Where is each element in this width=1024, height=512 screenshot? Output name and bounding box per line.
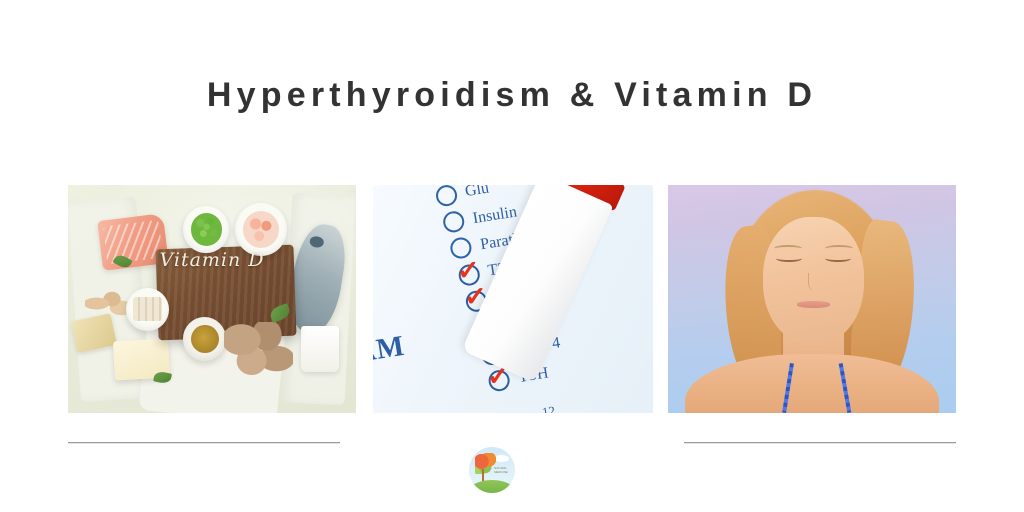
page-title: Hyperthyroidism & Vitamin D	[0, 76, 1024, 115]
nose	[808, 273, 819, 291]
cloud-icon	[494, 455, 510, 462]
eyebrow-left	[774, 245, 802, 252]
closed-eye-right	[825, 255, 851, 262]
checkbox-circle-icon[interactable]	[434, 185, 458, 208]
checkbox-circle-icon[interactable]: ✓	[487, 369, 511, 393]
board-chalk-text: Vitamin D	[68, 249, 356, 271]
form-label-am: AM	[373, 330, 407, 370]
image-panel-vitamin-d-foods: Vitamin D	[68, 185, 356, 413]
logo-caption: NATURAL MEDICINE	[494, 467, 512, 474]
tree-trunk-icon	[482, 469, 484, 481]
eyebrow-right	[825, 245, 853, 252]
image-panel-thyroid-lab-form: bin AM -12 Glu Insulin Parathy ✓ T3 ✓	[373, 185, 653, 413]
face	[763, 217, 864, 345]
checkbox-circle-icon[interactable]	[442, 210, 466, 234]
form-corner-number: -12	[537, 403, 557, 413]
tree-canopy-icon	[475, 453, 496, 474]
tree-logo[interactable]: NATURAL MEDICINE	[469, 447, 515, 493]
milk-glass-icon	[301, 326, 338, 372]
mouth	[797, 301, 829, 307]
hill-shape	[469, 480, 515, 493]
divider-left	[68, 442, 340, 443]
shrimp-bowl-icon	[235, 203, 287, 255]
mushrooms-icon	[224, 322, 293, 381]
woman-portrait-photo	[668, 185, 956, 413]
divider-right	[684, 442, 956, 443]
lab-requisition-photo: bin AM -12 Glu Insulin Parathy ✓ T3 ✓	[373, 185, 653, 413]
form-row-glu[interactable]: Glu	[434, 185, 491, 208]
form-row-label: Glu	[464, 185, 491, 201]
sardines-bowl-icon	[126, 288, 169, 331]
oil-bowl-icon	[183, 317, 226, 360]
vitamin-d-foods-photo: Vitamin D	[68, 185, 356, 413]
checkbox-circle-icon[interactable]	[449, 237, 473, 261]
image-panel-woman-eyes-closed	[668, 185, 956, 413]
closed-eye-left	[776, 255, 802, 262]
